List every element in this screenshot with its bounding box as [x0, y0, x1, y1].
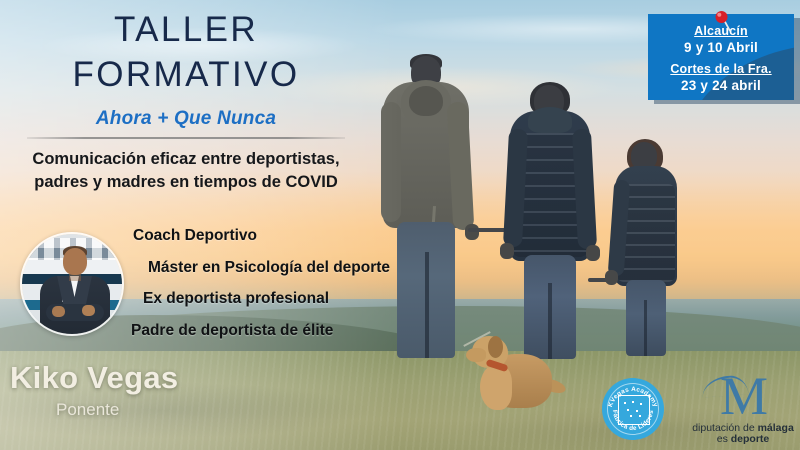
dog-figure — [472, 320, 562, 416]
subtitle: Ahora + Que Nunca — [0, 108, 372, 130]
academy-top-arc-text: KVegas Academy — [607, 386, 659, 408]
daughter-figure — [615, 142, 677, 354]
credentials-list: Coach Deportivo Máster en Psicología del… — [0, 228, 420, 354]
mother-figure — [510, 85, 590, 357]
credential-item: Ex deportista profesional — [143, 291, 420, 307]
speaker-name: Kiko Vegas — [10, 360, 270, 396]
description-line-1: Comunicación eficaz entre deportistas, — [0, 148, 372, 171]
badge-date-2: 23 y 24 abril — [648, 78, 794, 93]
logo-monogram: M — [712, 370, 776, 422]
diputacion-malaga-logo: M diputación de málaga es deporte — [690, 372, 796, 442]
credential-item: Coach Deportivo — [133, 228, 420, 244]
divider-rule — [27, 137, 345, 139]
headline-block: TALLER FORMATIVO Ahora + Que Nunca Comun… — [0, 8, 372, 194]
page-title-line-1: TALLER — [0, 8, 372, 53]
page-title-line-2: FORMATIVO — [0, 53, 372, 98]
badge-place-2: Cortes de la Fra. — [648, 62, 794, 76]
academy-bottom-arc-text: Fábrica de Líderes — [611, 409, 655, 432]
map-pin-icon — [710, 10, 736, 32]
speaker-role: Ponente — [56, 400, 270, 420]
description-line-2: padres y madres en tiempos de COVID — [0, 171, 372, 194]
kvegas-academy-logo: KVegas Academy Fábrica de Líderes — [602, 378, 664, 440]
dates-badge: Alcaucín 9 y 10 Abril Cortes de la Fra. … — [648, 10, 800, 114]
speaker-block: Kiko Vegas Ponente — [10, 360, 270, 420]
poster-canvas: TALLER FORMATIVO Ahora + Que Nunca Comun… — [0, 0, 800, 450]
credential-item: Máster en Psicología del deporte — [148, 260, 420, 276]
credential-item: Padre de deportista de élite — [131, 323, 420, 339]
logo-line-2: es deporte — [690, 433, 796, 445]
badge-date-1: 9 y 10 Abril — [648, 40, 794, 55]
